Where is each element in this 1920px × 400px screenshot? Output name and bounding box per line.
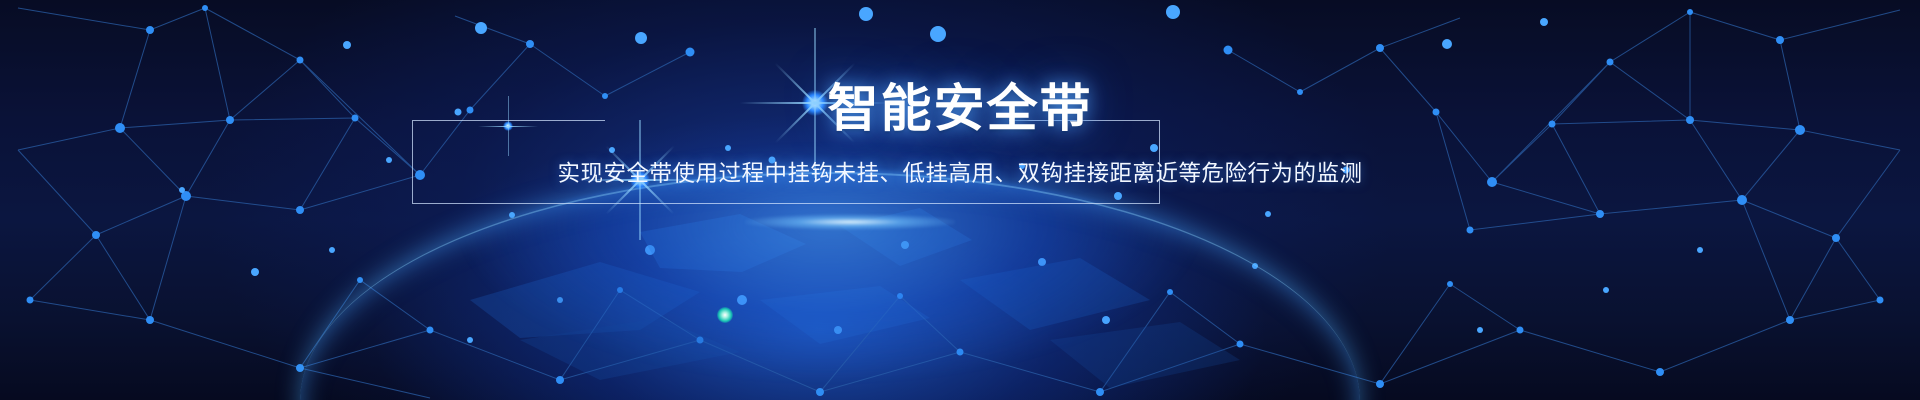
page-title: 智能安全带 xyxy=(0,83,1920,134)
hero-banner: 智能安全带 实现安全带使用过程中挂钩未挂、低挂高用、双钩挂接距离近等危险行为的监… xyxy=(0,0,1920,400)
globe-flash xyxy=(745,214,955,230)
page-subtitle: 实现安全带使用过程中挂钩未挂、低挂高用、双钩挂接距离近等危险行为的监测 xyxy=(0,160,1920,188)
